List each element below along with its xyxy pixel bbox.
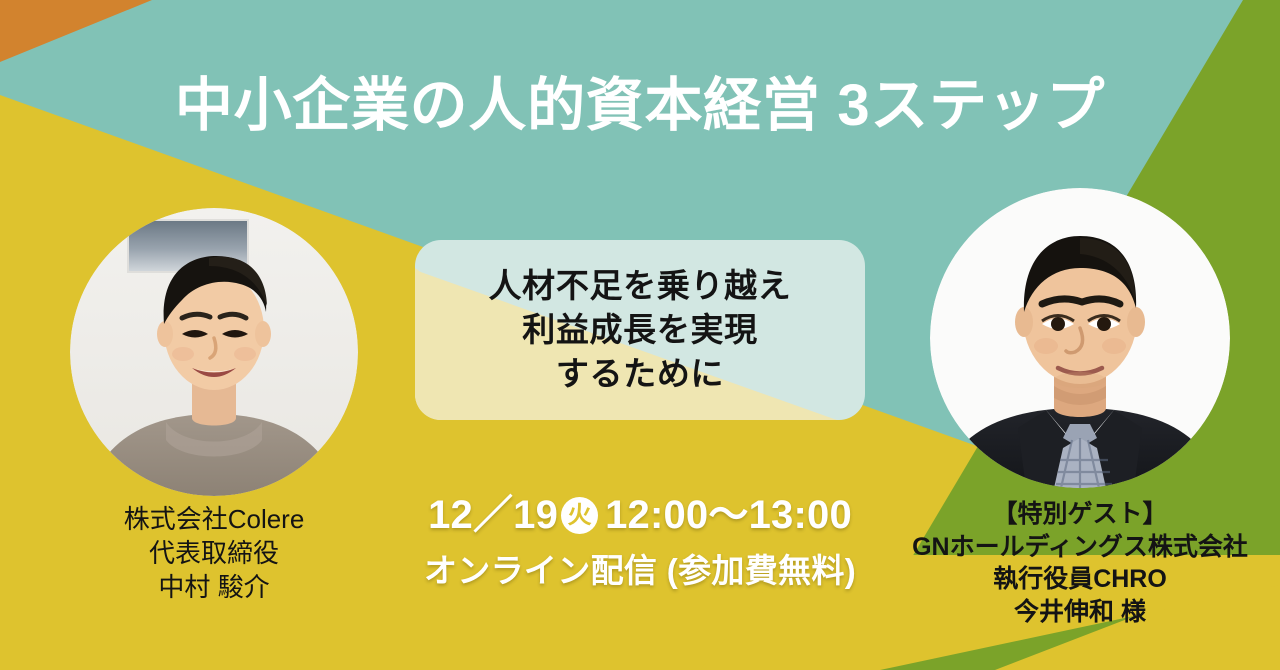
speaker-left-caption: 株式会社Colere 代表取締役 中村 駿介 [64,503,364,604]
banner-canvas: 中小企業の人的資本経営 3ステップ [0,0,1280,670]
speaker-left-name: 中村 駿介 [64,571,364,605]
subtitle-card: 人材不足を乗り越え 利益成長を実現 するために [415,240,865,420]
subtitle-line-1: 人材不足を乗り越え [489,264,792,308]
event-datetime-block: 12／19 火 12:00〜13:00 オンライン配信 (参加費無料) [390,492,890,591]
event-date: 12／19 [428,492,558,539]
event-time: 12:00〜13:00 [605,492,852,539]
event-date-time-row: 12／19 火 12:00〜13:00 [390,492,890,539]
speaker-right-caption: 【特別ゲスト】 GNホールディングス株式会社 執行役員CHRO 今井伸和 様 [880,498,1280,628]
event-format: オンライン配信 (参加費無料) [390,550,890,591]
banner-title: 中小企業の人的資本経営 3ステップ [0,74,1280,139]
speaker-right-company: GNホールディングス株式会社 [880,531,1280,564]
subtitle-line-3: するために [556,352,724,396]
speaker-left-role: 代表取締役 [64,537,364,571]
speaker-right-photo [930,188,1230,488]
weekday-badge: 火 [561,497,598,534]
subtitle-line-2: 利益成長を実現 [522,308,758,352]
speaker-right-name: 今井伸和 様 [880,596,1280,629]
speaker-right-role: 執行役員CHRO [880,563,1280,596]
speaker-left-photo [70,208,358,496]
speaker-left-company: 株式会社Colere [64,503,364,537]
speaker-right-badge: 【特別ゲスト】 [880,498,1280,531]
subtitle-text: 人材不足を乗り越え 利益成長を実現 するために [415,240,865,420]
